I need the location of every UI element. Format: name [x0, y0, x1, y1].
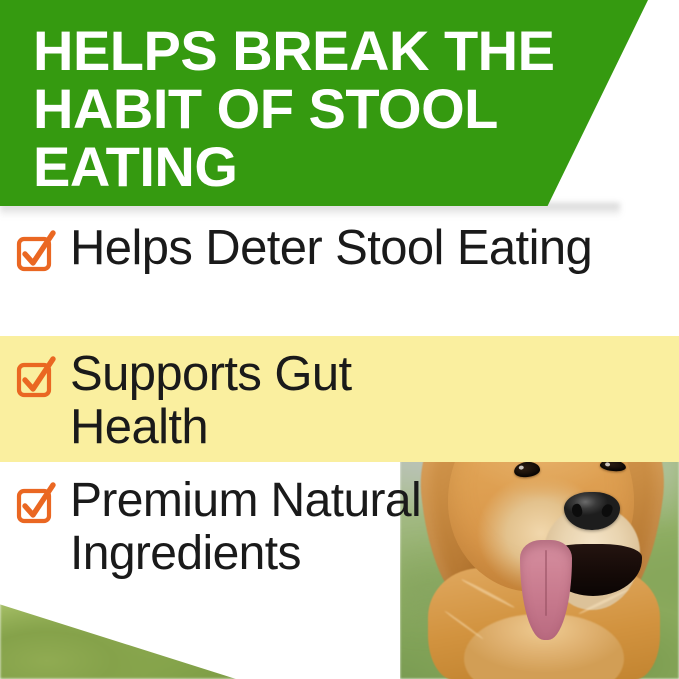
benefit-row-premium-natural-ingredients: Premium Natural Ingredients: [16, 474, 436, 580]
benefit-label: Premium Natural Ingredients: [70, 474, 436, 580]
benefit-label: Helps Deter Stool Eating: [70, 222, 592, 275]
infographic-canvas: HELPS BREAK THE HABIT OF STOOL EATING He…: [0, 0, 679, 679]
benefit-row-deter-stool-eating: Helps Deter Stool Eating: [16, 222, 656, 275]
dog-nostril-left: [570, 503, 584, 518]
header-banner: HELPS BREAK THE HABIT OF STOOL EATING: [0, 0, 648, 206]
grass-wedge: [0, 588, 236, 679]
checkbox-check-icon: [16, 230, 56, 274]
dog-nostril-right: [600, 503, 614, 518]
eye-highlight: [519, 465, 524, 470]
dog-eye-left: [513, 461, 540, 479]
tongue-crease: [545, 550, 547, 616]
benefit-label: Supports Gut Health: [70, 348, 436, 454]
benefit-row-supports-gut-health: Supports Gut Health: [16, 348, 436, 454]
checkbox-check-icon: [16, 482, 56, 526]
eye-highlight: [605, 462, 610, 467]
page-title: HELPS BREAK THE HABIT OF STOOL EATING: [33, 22, 593, 196]
checkbox-check-icon: [16, 356, 56, 400]
